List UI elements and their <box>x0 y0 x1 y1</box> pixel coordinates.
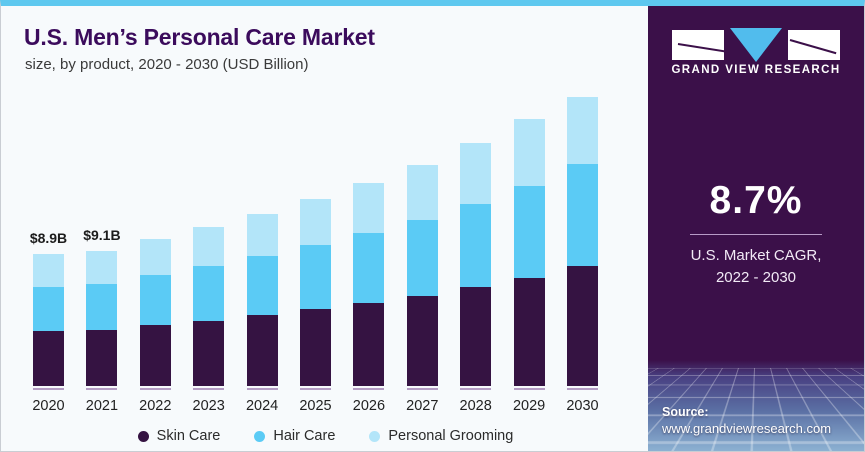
bar-segment-skin-care <box>407 296 438 386</box>
legend-item-personal-grooming[interactable]: Personal Grooming <box>369 428 513 444</box>
cagr-block: 8.7% U.S. Market CAGR, 2022 - 2030 <box>648 181 864 288</box>
bar-stack <box>86 251 117 386</box>
legend-item-hair-care[interactable]: Hair Care <box>254 428 335 444</box>
bar-stack <box>247 214 278 386</box>
x-axis-tick <box>140 388 171 390</box>
legend-swatch-icon <box>369 431 380 442</box>
infographic-card: U.S. Men’s Personal Care Market size, by… <box>0 0 865 452</box>
bar-segment-skin-care <box>353 303 384 386</box>
x-axis-label-2022: 2022 <box>126 398 184 414</box>
bar-segment-personal-grooming <box>33 254 64 287</box>
bar-segment-personal-grooming <box>407 165 438 220</box>
source-label: Source: <box>662 404 831 421</box>
brand-wordmark: GRAND VIEW RESEARCH <box>648 64 864 76</box>
x-axis-tick <box>300 388 331 390</box>
brand-logo <box>648 28 864 62</box>
x-axis-label-2027: 2027 <box>393 398 451 414</box>
x-axis-tick <box>247 388 278 390</box>
legend-swatch-icon <box>138 431 149 442</box>
bar-segment-skin-care <box>33 331 64 386</box>
logo-box-right-icon <box>788 30 840 60</box>
x-axis-label-2024: 2024 <box>233 398 291 414</box>
bar-segment-personal-grooming <box>460 143 491 204</box>
legend-swatch-icon <box>254 431 265 442</box>
source-url[interactable]: www.grandviewresearch.com <box>662 420 831 438</box>
bar-segment-skin-care <box>86 330 117 386</box>
x-axis-tick <box>460 388 491 390</box>
bar-segment-personal-grooming <box>140 239 171 275</box>
bar-stack <box>353 183 384 386</box>
bar-segment-skin-care <box>247 315 278 386</box>
bar-stack <box>33 254 64 386</box>
bar-value-label-2021: $9.1B <box>67 227 137 243</box>
x-axis-label-2030: 2030 <box>554 398 612 414</box>
bar-segment-personal-grooming <box>193 227 224 266</box>
chart-legend: Skin CareHair CarePersonal Grooming <box>1 428 650 444</box>
x-axis-tick <box>353 388 384 390</box>
bar-segment-hair-care <box>86 284 117 330</box>
x-axis-tick <box>407 388 438 390</box>
mesh-grid-icon <box>648 360 864 368</box>
legend-label: Personal Grooming <box>388 428 513 444</box>
bar-segment-personal-grooming <box>86 251 117 284</box>
bar-segment-hair-care <box>407 220 438 296</box>
bar-segment-hair-care <box>140 275 171 325</box>
bar-stack <box>514 119 545 386</box>
x-axis-tick <box>567 388 598 390</box>
bar-stack <box>140 239 171 386</box>
bar-segment-skin-care <box>140 325 171 386</box>
bar-segment-hair-care <box>514 186 545 278</box>
x-axis-label-2025: 2025 <box>287 398 345 414</box>
legend-label: Skin Care <box>157 428 221 444</box>
x-axis-tick <box>86 388 117 390</box>
cagr-caption-line1: U.S. Market CAGR, <box>648 245 864 267</box>
bar-segment-personal-grooming <box>247 214 278 255</box>
bar-segment-skin-care <box>193 321 224 386</box>
cagr-caption-line2: 2022 - 2030 <box>648 267 864 289</box>
logo-slash-right-icon <box>790 39 837 54</box>
x-axis-label-2026: 2026 <box>340 398 398 414</box>
bar-stack <box>407 165 438 386</box>
bar-segment-skin-care <box>514 278 545 386</box>
bar-stack <box>300 199 331 386</box>
logo-box-left-icon <box>672 30 724 60</box>
x-axis-label-2020: 2020 <box>20 398 78 414</box>
bar-segment-skin-care <box>460 287 491 386</box>
x-axis-tick <box>193 388 224 390</box>
bar-stack <box>460 143 491 386</box>
bar-segment-hair-care <box>300 245 331 309</box>
bar-segment-hair-care <box>193 266 224 321</box>
bar-chart-plot-area: 2020$8.9B2021$9.1B2022202320242025202620… <box>1 6 650 452</box>
x-axis-tick <box>514 388 545 390</box>
bar-segment-personal-grooming <box>300 199 331 245</box>
x-axis-label-2028: 2028 <box>447 398 505 414</box>
cagr-divider <box>690 234 822 235</box>
bar-stack <box>567 97 598 386</box>
legend-label: Hair Care <box>273 428 335 444</box>
bar-segment-skin-care <box>300 309 331 386</box>
bar-segment-hair-care <box>567 164 598 266</box>
bar-segment-hair-care <box>353 233 384 303</box>
logo-triangle-icon <box>730 28 782 62</box>
bar-stack <box>193 227 224 386</box>
chart-panel: U.S. Men’s Personal Care Market size, by… <box>1 6 650 452</box>
bar-segment-hair-care <box>247 256 278 315</box>
legend-item-skin-care[interactable]: Skin Care <box>138 428 221 444</box>
x-axis-label-2021: 2021 <box>73 398 131 414</box>
logo-slash-left-icon <box>678 43 724 52</box>
x-axis-label-2029: 2029 <box>500 398 558 414</box>
bar-segment-personal-grooming <box>514 119 545 186</box>
cagr-value: 8.7% <box>648 181 864 222</box>
bar-segment-personal-grooming <box>567 97 598 164</box>
bar-segment-hair-care <box>33 287 64 331</box>
bar-segment-personal-grooming <box>353 183 384 233</box>
source-block: Source: www.grandviewresearch.com <box>662 404 831 438</box>
x-axis-tick <box>33 388 64 390</box>
brand-panel: GRAND VIEW RESEARCH 8.7% U.S. Market CAG… <box>648 6 864 452</box>
bar-segment-skin-care <box>567 266 598 386</box>
x-axis-label-2023: 2023 <box>180 398 238 414</box>
bar-segment-hair-care <box>460 204 491 287</box>
